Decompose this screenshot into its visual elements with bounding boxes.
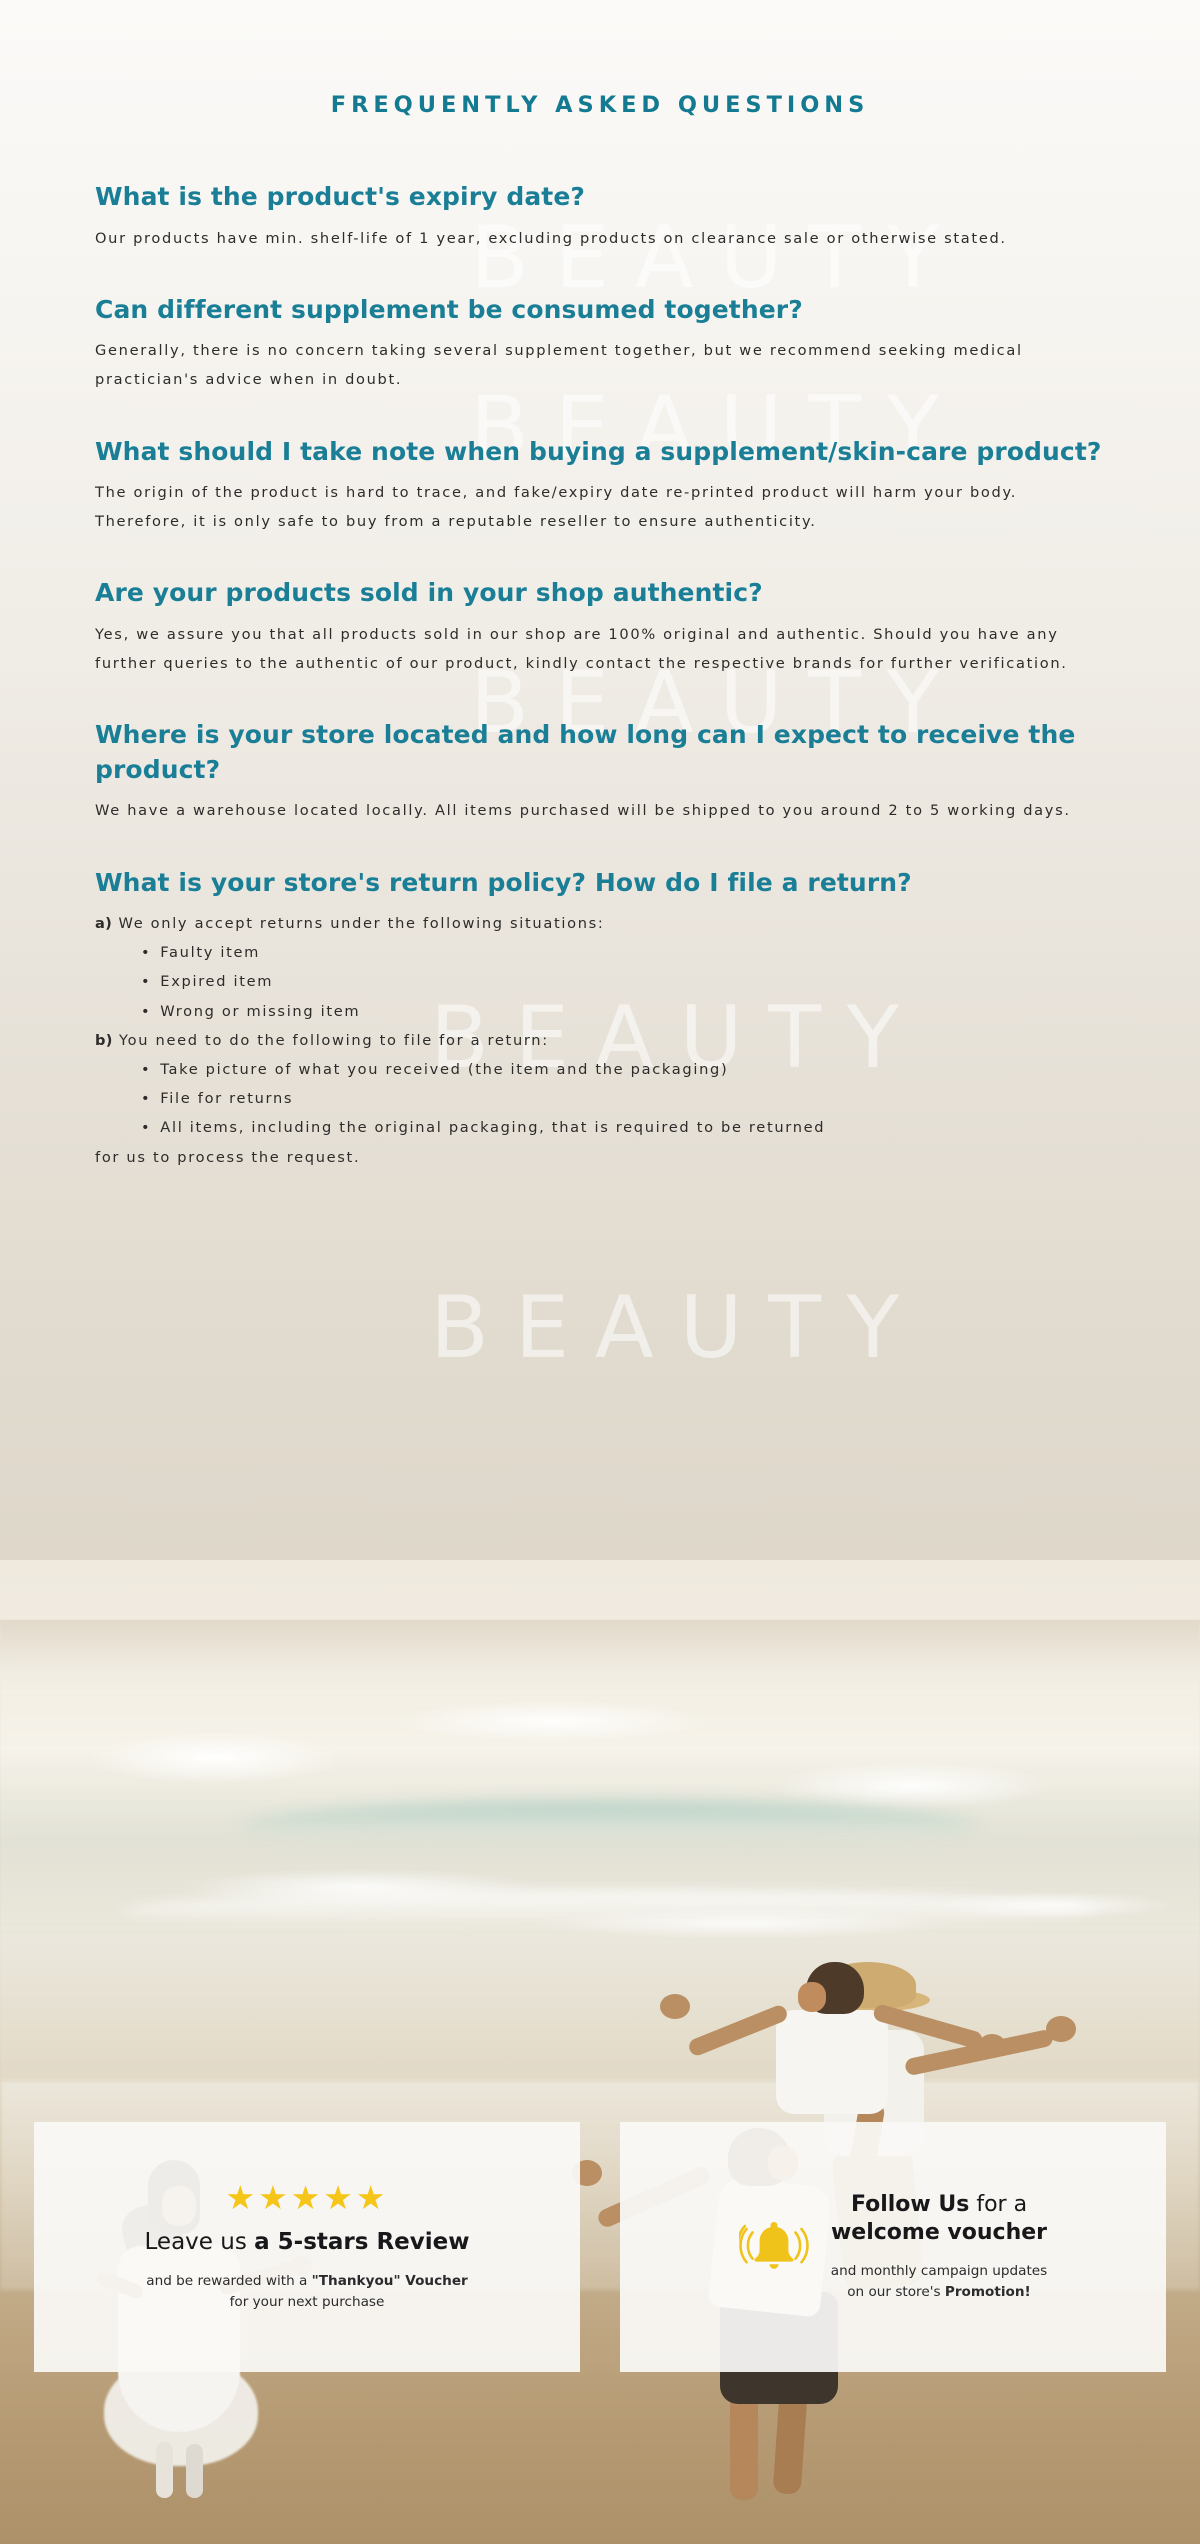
list-item: File for returns: [95, 1084, 1105, 1113]
faq-question: What is the product's expiry date?: [95, 180, 1105, 215]
promo-cards: ★★★★★ Leave us a 5-stars Review and be r…: [0, 2122, 1200, 2372]
beach-photo: [0, 1560, 1200, 2544]
list-item: Take picture of what you received (the i…: [95, 1055, 1105, 1084]
faq-answer: Our products have min. shelf-life of 1 y…: [95, 224, 1105, 253]
faq-item-returns: What is your store's return policy? How …: [95, 866, 1105, 1172]
faq-question: Can different supplement be consumed tog…: [95, 293, 1105, 328]
faq-question: Where is your store located and how long…: [95, 718, 1105, 787]
follow-sub-plain-2: on our store's: [847, 2284, 945, 2300]
returns-group-b: b) You need to do the following to file …: [95, 1026, 1105, 1055]
faq-item-4: Where is your store located and how long…: [95, 718, 1105, 825]
wave-crest: [240, 1800, 980, 1852]
bell-icon: [739, 2214, 809, 2280]
beach-background: [0, 1560, 1200, 2544]
review-card[interactable]: ★★★★★ Leave us a 5-stars Review and be r…: [34, 2122, 580, 2372]
list-item: Wrong or missing item: [95, 997, 1105, 1026]
wave-foam: [120, 1890, 1100, 1930]
faq-title: FREQUENTLY ASKED QUESTIONS: [95, 0, 1105, 118]
review-headline-plain: Leave us: [145, 2229, 255, 2255]
list-marker-b: b): [95, 1032, 113, 1049]
list-marker-a: a): [95, 915, 112, 932]
list-item: Expired item: [95, 967, 1105, 996]
follow-headline-bold-2: welcome voucher: [831, 2220, 1047, 2245]
follow-text: Follow Us for awelcome voucher and month…: [831, 2191, 1048, 2303]
list-item: All items, including the original packag…: [95, 1113, 1105, 1142]
follow-headline-bold-1: Follow Us: [851, 2192, 969, 2217]
faq-item-2: What should I take note when buying a su…: [95, 435, 1105, 537]
review-subline: and be rewarded with a "Thankyou" Vouche…: [146, 2271, 468, 2313]
faq-answer: Yes, we assure you that all products sol…: [95, 620, 1105, 678]
returns-list: a) We only accept returns under the foll…: [95, 909, 1105, 1143]
review-sub-bold: "Thankyou" Voucher: [312, 2273, 468, 2289]
list-lead-b: You need to do the following to file for…: [119, 1032, 549, 1049]
review-sub-plain-1: and be rewarded with a: [146, 2273, 311, 2289]
faq-question: What should I take note when buying a su…: [95, 435, 1105, 470]
follow-card[interactable]: Follow Us for awelcome voucher and month…: [620, 2122, 1166, 2372]
returns-tail: for us to process the request.: [95, 1143, 1105, 1172]
faq-answer: We have a warehouse located locally. All…: [95, 796, 1105, 825]
review-sub-plain-2: for your next purchase: [230, 2294, 385, 2310]
returns-group-a: a) We only accept returns under the foll…: [95, 909, 1105, 938]
follow-headline-plain-1: for a: [969, 2192, 1027, 2217]
faq-item-1: Can different supplement be consumed tog…: [95, 293, 1105, 395]
faq-answer: The origin of the product is hard to tra…: [95, 478, 1105, 536]
list-item: Faulty item: [95, 938, 1105, 967]
list-lead-a: We only accept returns under the followi…: [118, 915, 604, 932]
follow-card-row: Follow Us for awelcome voucher and month…: [739, 2191, 1048, 2303]
follow-sub-bold: Promotion!: [945, 2284, 1031, 2300]
follow-headline: Follow Us for awelcome voucher: [831, 2191, 1048, 2248]
star-rating-icon: ★★★★★: [226, 2181, 389, 2214]
review-headline: Leave us a 5-stars Review: [145, 2228, 470, 2258]
watermark-beauty: BEAUTY: [430, 1285, 925, 1371]
follow-sub-plain-1: and monthly campaign updates: [831, 2263, 1048, 2279]
faq-section: BEAUTY BEAUTY BEAUTY BEAUTY BEAUTY FREQU…: [0, 0, 1200, 1560]
faq-question: Are your products sold in your shop auth…: [95, 576, 1105, 611]
faq-answer: Generally, there is no concern taking se…: [95, 336, 1105, 394]
faq-question: What is your store's return policy? How …: [95, 866, 1105, 901]
faq-item-3: Are your products sold in your shop auth…: [95, 576, 1105, 678]
faq-item-0: What is the product's expiry date? Our p…: [95, 180, 1105, 253]
review-headline-bold: a 5-stars Review: [254, 2229, 469, 2255]
follow-subline: and monthly campaign updates on our stor…: [831, 2261, 1048, 2303]
